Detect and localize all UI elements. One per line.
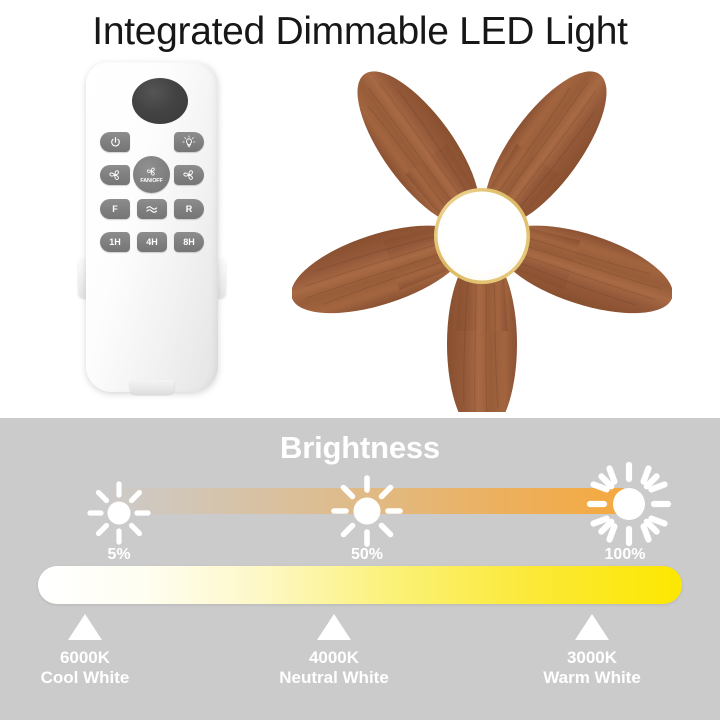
color-temperature-bar <box>38 566 682 604</box>
temp-kelvin-3000k: 3000K <box>502 648 682 668</box>
remote-timer-8h-label: 8H <box>183 237 195 247</box>
remote-fan-off-label: FAN/OFF <box>140 179 162 184</box>
remote-body: FAN/OFF F <box>86 62 218 392</box>
sun-icon-50-percent <box>330 474 404 553</box>
temp-marker-4000k <box>317 614 351 640</box>
temp-kelvin-6000k: 6000K <box>0 648 175 668</box>
ceiling-fan <box>292 52 672 412</box>
remote-fan-down-button[interactable] <box>100 165 130 185</box>
brightness-label-100: 100% <box>580 546 670 564</box>
fan-blade-icon <box>107 167 123 183</box>
temp-label-3000k: 3000K Warm White <box>502 648 682 688</box>
fan-blade-icon <box>181 167 197 183</box>
hero-section: Integrated Dimmable LED Light <box>0 0 720 418</box>
sun-icon-5-percent <box>86 480 152 551</box>
remote-power-button[interactable] <box>100 132 130 152</box>
brightness-label-50: 50% <box>322 546 412 564</box>
remote-ir-emitter <box>132 78 188 124</box>
remote-timer-4h-button[interactable]: 4H <box>137 232 167 252</box>
lighting-control-panel: Brightness <box>0 418 720 720</box>
temp-marker-3000k <box>575 614 609 640</box>
remote-fan-up-button[interactable] <box>174 165 204 185</box>
remote-breeze-button[interactable] <box>137 199 167 219</box>
temp-marker-6000k <box>68 614 102 640</box>
remote-forward-button[interactable]: F <box>100 199 130 219</box>
remote-fan-off-button[interactable]: FAN/OFF <box>133 156 170 193</box>
remote-timer-8h-button[interactable]: 8H <box>174 232 204 252</box>
sun-icon-100-percent <box>585 460 673 553</box>
remote-bottom-tab <box>130 380 174 394</box>
power-icon <box>109 136 122 149</box>
remote-timer-4h-label: 4H <box>146 237 158 247</box>
remote-timer-1h-label: 1H <box>109 237 121 247</box>
page-title: Integrated Dimmable LED Light <box>0 10 720 54</box>
remote-timer-1h-button[interactable]: 1H <box>100 232 130 252</box>
temp-name-neutral-white: Neutral White <box>244 668 424 688</box>
remote-light-button[interactable] <box>174 132 204 152</box>
remote-reverse-label: R <box>186 204 193 214</box>
breeze-wave-icon <box>145 204 160 215</box>
fan-remote-control: FAN/OFF F <box>78 62 226 392</box>
remote-forward-label: F <box>112 204 118 214</box>
temp-name-warm-white: Warm White <box>502 668 682 688</box>
brightness-label-5: 5% <box>74 546 164 564</box>
temp-label-6000k: 6000K Cool White <box>0 648 175 688</box>
fan-light-hub <box>434 188 530 284</box>
fan-icon <box>145 165 158 178</box>
temp-name-cool-white: Cool White <box>0 668 175 688</box>
light-bulb-icon <box>182 135 196 149</box>
temp-label-4000k: 4000K Neutral White <box>244 648 424 688</box>
remote-reverse-button[interactable]: R <box>174 199 204 219</box>
temp-kelvin-4000k: 4000K <box>244 648 424 668</box>
